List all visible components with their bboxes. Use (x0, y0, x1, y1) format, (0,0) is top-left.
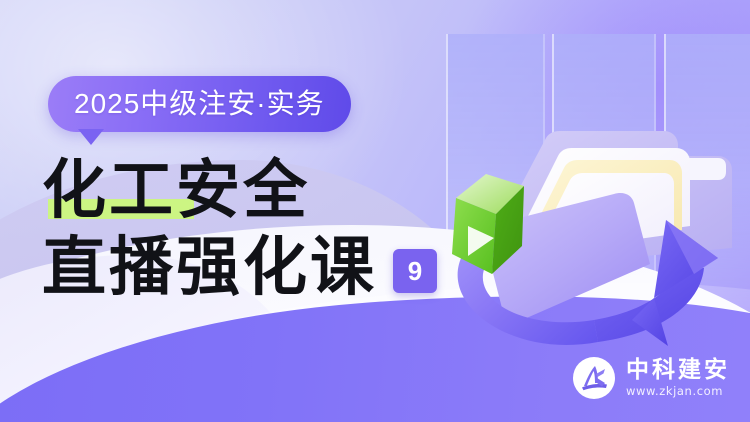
headline-block: 化工安全 直播强化课 9 (42, 158, 472, 301)
badge-pill: 2025中级注安·实务 (48, 76, 351, 132)
logo-text-group: 中科建安 www.zkjan.com (626, 357, 730, 398)
episode-number: 9 (408, 258, 422, 284)
logo-company-name: 中科建安 (626, 357, 730, 382)
headline-line-2: 直播强化课 9 (42, 235, 472, 300)
badge-label: 2025中级注安·实务 (74, 90, 325, 118)
headline-line-1: 化工安全 (42, 158, 472, 223)
logo-website-url: www.zkjan.com (626, 385, 730, 399)
badge-tail-icon (78, 129, 104, 145)
course-promo-banner: 2025中级注安·实务 化工安全 直播强化课 9 中科建安 (0, 0, 750, 422)
course-tag-badge: 2025中级注安·实务 (48, 76, 351, 132)
brand-logo: 中科建安 www.zkjan.com (572, 356, 730, 400)
headline-text-1: 化工安全 (42, 158, 310, 223)
headline-text-2: 直播强化课 (42, 235, 377, 300)
episode-number-badge: 9 (393, 249, 437, 293)
zhongke-jianan-logo-icon (572, 356, 616, 400)
